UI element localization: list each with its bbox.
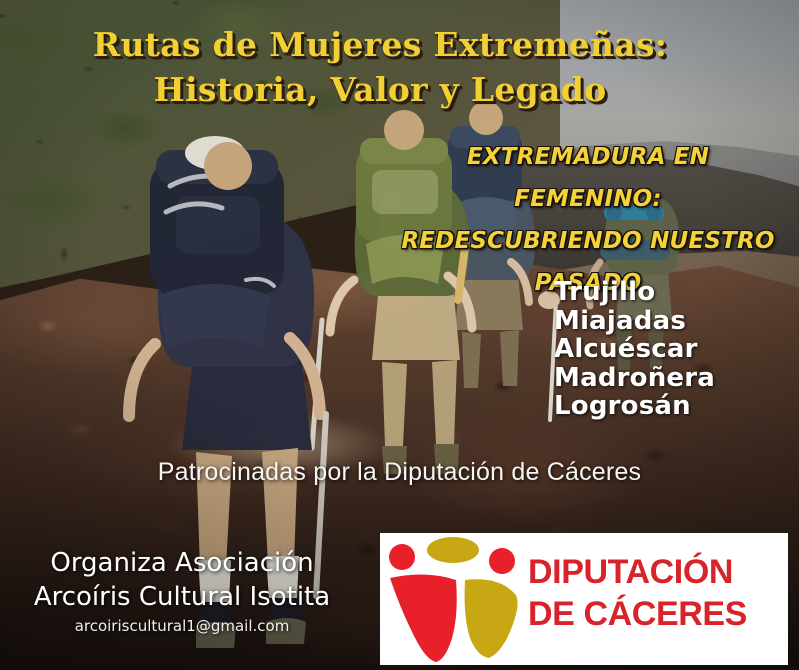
organizer-text: Organiza Asociación Arcoíris Cultural Is… bbox=[12, 546, 352, 614]
diputacion-caceres-logo: DIPUTACIÓN DE CÁCERES bbox=[380, 533, 788, 665]
town-item: Miajadas bbox=[554, 307, 715, 336]
town-item: Madroñera bbox=[554, 364, 715, 393]
page-title: Rutas de Mujeres Extremeñas: Historia, V… bbox=[0, 22, 760, 112]
town-item: Alcuéscar bbox=[554, 335, 715, 364]
contact-email: arcoiriscultural1@gmail.com bbox=[12, 617, 352, 635]
diputacion-caceres-emblem-icon bbox=[386, 535, 526, 663]
sponsor-line: Patrocinadas por la Diputación de Cácere… bbox=[0, 458, 799, 487]
poster: Rutas de Mujeres Extremeñas: Historia, V… bbox=[0, 0, 799, 670]
town-item: Logrosán bbox=[554, 392, 715, 421]
logo-wordmark: DIPUTACIÓN DE CÁCERES bbox=[528, 551, 796, 635]
town-list: Trujillo Miajadas Alcuéscar Madroñera Lo… bbox=[554, 278, 715, 421]
town-item: Trujillo bbox=[554, 278, 715, 307]
